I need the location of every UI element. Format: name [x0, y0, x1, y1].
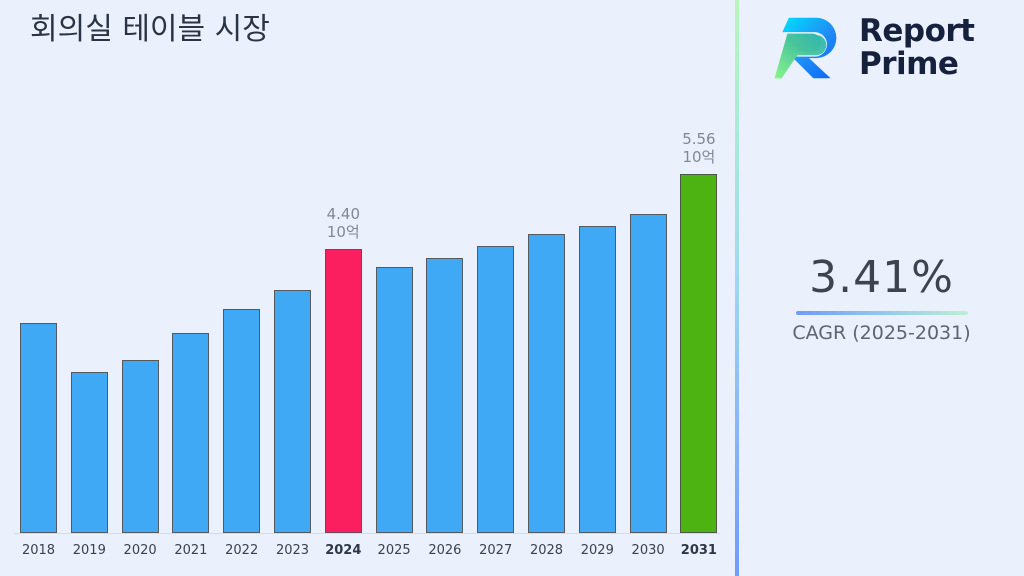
bar-group-2026[interactable]: 2026 [426, 0, 463, 576]
x-axis-tick-2031: 2031 [668, 543, 729, 559]
bar-group-2024[interactable]: 4.4010억2024 [325, 0, 362, 576]
brand-logo-text: Report Prime [859, 15, 975, 81]
bar-2029[interactable] [579, 226, 616, 533]
side-panel: Report Prime 3.41% CAGR (2025-2031) [739, 0, 1024, 576]
bar-group-2030[interactable]: 2030 [630, 0, 667, 576]
bar-2022[interactable] [223, 309, 260, 533]
bar-value-number: 4.40 [327, 205, 360, 223]
bar-2020[interactable] [122, 360, 159, 534]
chart-screenshot: 회의실 테이블 시장 2018201920202021202220234.401… [0, 0, 1024, 576]
cagr-value: 3.41% [739, 252, 1024, 304]
bar-2031[interactable] [680, 174, 717, 533]
bar-group-2022[interactable]: 2022 [223, 0, 260, 576]
bar-2030[interactable] [630, 214, 667, 533]
bar-2028[interactable] [528, 234, 565, 533]
bar-group-2021[interactable]: 2021 [172, 0, 209, 576]
bar-value-label-2031: 5.5610억 [658, 130, 739, 166]
bar-2019[interactable] [71, 372, 108, 533]
brand-line-2: Prime [859, 48, 975, 81]
brand-line-1: Report [859, 15, 975, 48]
bar-value-unit: 10억 [303, 223, 384, 241]
cagr-block: 3.41% CAGR (2025-2031) [739, 252, 1024, 345]
bar-value-label-2024: 4.4010억 [303, 205, 384, 241]
bar-group-2027[interactable]: 2027 [477, 0, 514, 576]
bar-2024[interactable] [325, 249, 362, 533]
bar-2025[interactable] [376, 267, 413, 533]
bar-2023[interactable] [274, 290, 311, 533]
bar-group-2023[interactable]: 2023 [274, 0, 311, 576]
bar-group-2019[interactable]: 2019 [71, 0, 108, 576]
bar-2021[interactable] [172, 333, 209, 533]
cagr-divider-rule [796, 311, 968, 315]
bar-group-2028[interactable]: 2028 [528, 0, 565, 576]
bar-group-2018[interactable]: 2018 [20, 0, 57, 576]
bar-2027[interactable] [477, 246, 514, 533]
bar-group-2029[interactable]: 2029 [579, 0, 616, 576]
bar-2018[interactable] [20, 323, 57, 533]
bar-group-2020[interactable]: 2020 [122, 0, 159, 576]
bar-value-unit: 10억 [658, 148, 739, 166]
bar-chart-plot-area: 2018201920202021202220234.4010억202420252… [0, 0, 735, 576]
bar-2026[interactable] [426, 258, 463, 533]
report-prime-logo-icon [773, 12, 845, 84]
bar-value-number: 5.56 [682, 130, 715, 148]
cagr-caption: CAGR (2025-2031) [739, 321, 1024, 345]
brand-logo: Report Prime [773, 12, 975, 84]
bar-group-2025[interactable]: 2025 [376, 0, 413, 576]
bar-group-2031[interactable]: 5.5610억2031 [680, 0, 717, 576]
